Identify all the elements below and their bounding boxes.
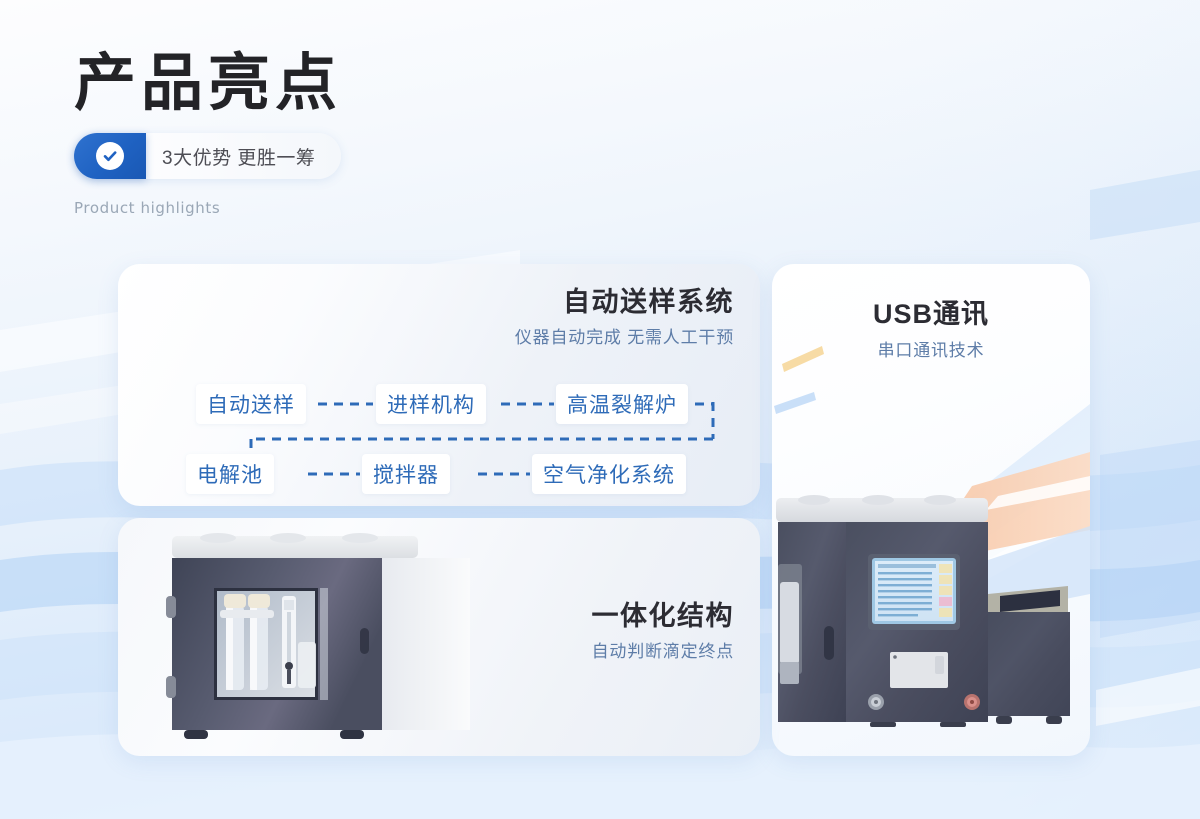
card-usb-title: USB通讯 (772, 298, 1090, 330)
page-header: 产品亮点 3大优势 更胜一筹 Product highlights (74, 48, 342, 217)
instrument-illustration (776, 495, 1070, 727)
page-root: 产品亮点 3大优势 更胜一筹 Product highlights 自动送样系统… (0, 0, 1200, 819)
page-subtitle-en: Product highlights (74, 199, 342, 217)
deco-stroke-blue (774, 392, 816, 414)
badge-label: 3大优势 更胜一筹 (162, 143, 315, 170)
check-circle-icon (96, 142, 124, 170)
card-structure-title: 一体化结构 (592, 600, 735, 632)
status-badge: 3大优势 更胜一筹 (74, 133, 341, 179)
card-structure-subtitle: 自动判断滴定终点 (592, 641, 735, 663)
card-structure-header: 一体化结构 自动判断滴定终点 (592, 600, 735, 663)
card-usb-header: USB通讯 串口通讯技术 (772, 298, 1090, 362)
instrument-side-illustration (164, 532, 484, 744)
flow-chip-stirrer[interactable]: 搅拌器 (362, 454, 450, 494)
card-usb-subtitle: 串口通讯技术 (772, 340, 1090, 362)
flow-chip-injector[interactable]: 进样机构 (376, 384, 486, 424)
deco-ribbon-peach (920, 452, 1090, 564)
card-auto-sampling[interactable]: 自动送样系统 仪器自动完成 无需人工干预 (118, 264, 760, 506)
card-integrated-structure[interactable]: 一体化结构 自动判断滴定终点 (118, 518, 760, 756)
flow-chip-pyrolysis[interactable]: 高温裂解炉 (556, 384, 688, 424)
card-usb-communication[interactable]: USB通讯 串口通讯技术 (772, 264, 1090, 756)
flow-chip-auto-feed[interactable]: 自动送样 (196, 384, 306, 424)
badge-icon-container (74, 133, 146, 179)
flow-chip-air-purifier[interactable]: 空气净化系统 (532, 454, 686, 494)
flow-chip-electrolytic-cell[interactable]: 电解池 (186, 454, 274, 494)
page-title: 产品亮点 (74, 48, 342, 117)
flow-diagram: 自动送样 进样机构 高温裂解炉 电解池 搅拌器 空气净化系统 (118, 264, 760, 506)
